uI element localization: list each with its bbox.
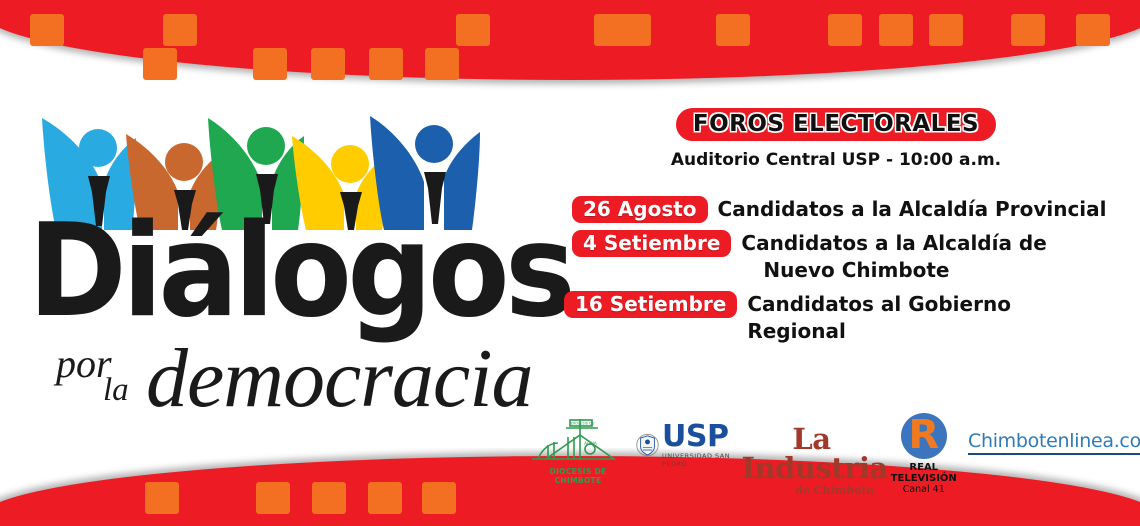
footer-square bbox=[368, 482, 402, 514]
venue-text: Auditorio Central USP - 10:00 a.m. bbox=[556, 150, 1116, 170]
sponsor-row: AGUA DIOCESIS DE DIOCESIS DE CHIMBOTE US… bbox=[528, 413, 1128, 483]
event-row: 16 Setiembre Candidatos al Gobierno Regi… bbox=[556, 291, 1116, 345]
banner-root: Diálogos por la democracia FOROS ELECTOR… bbox=[0, 0, 1140, 526]
event-date-badge: 26 Agosto bbox=[572, 196, 708, 223]
usp-shield-icon bbox=[636, 428, 659, 462]
sponsor-la-industria: La Industria de Chimbote bbox=[741, 425, 881, 497]
footer-square bbox=[145, 482, 179, 514]
footer-square bbox=[422, 482, 456, 514]
event-description-line1: Candidatos al Gobierno Regional bbox=[747, 292, 1011, 343]
footer-square bbox=[256, 482, 290, 514]
header-square bbox=[929, 14, 963, 46]
header-square bbox=[879, 14, 913, 46]
header-square bbox=[311, 48, 345, 80]
event-description-line1: Candidatos a la Alcaldía de bbox=[741, 231, 1046, 255]
real-tv-name: REAL TELEVISIÓN bbox=[885, 462, 962, 484]
diocesis-cross-mountain-icon: AGUA DIOCESIS DE bbox=[528, 415, 628, 461]
logo-subtitle-democracia: democracia bbox=[146, 337, 533, 421]
header-square bbox=[163, 14, 197, 46]
header-band bbox=[0, 0, 1140, 92]
event-description: Candidatos a la Alcaldía de Nuevo Chimbo… bbox=[731, 230, 1046, 284]
real-tv-channel: Canal 41 bbox=[885, 484, 962, 495]
logo-title: Diálogos bbox=[28, 208, 484, 336]
real-tv-letter: R bbox=[901, 415, 947, 455]
chimbotenlinea-name: Chimbotenlinea.com bbox=[968, 430, 1140, 455]
header-square bbox=[143, 48, 177, 80]
svg-text:AGUA: AGUA bbox=[584, 441, 598, 447]
event-description-line1: Candidatos a la Alcaldía Provincial bbox=[718, 197, 1107, 221]
header-square bbox=[828, 14, 862, 46]
event-description: Candidatos a la Alcaldía Provincial bbox=[708, 196, 1107, 223]
svg-text:DIOCESIS DE: DIOCESIS DE bbox=[571, 422, 595, 426]
header-square bbox=[425, 48, 459, 80]
header-square bbox=[253, 48, 287, 80]
event-row: 4 Setiembre Candidatos a la Alcaldía de … bbox=[556, 230, 1116, 284]
usp-acronym: USP bbox=[662, 423, 735, 451]
event-row: 26 Agosto Candidatos a la Alcaldía Provi… bbox=[556, 196, 1116, 223]
logo-subtitle-la: la bbox=[103, 372, 129, 409]
sponsor-usp: USP UNIVERSIDAD SAN PEDRO bbox=[636, 423, 735, 468]
event-description: Candidatos al Gobierno Regional bbox=[737, 291, 1116, 345]
header-square bbox=[1011, 14, 1045, 46]
event-date-badge: 4 Setiembre bbox=[572, 230, 731, 257]
real-tv-circle-icon: R bbox=[901, 413, 947, 459]
header-square bbox=[456, 14, 490, 46]
event-info-column: FOROS ELECTORALES Auditorio Central USP … bbox=[556, 108, 1116, 352]
header-square bbox=[30, 14, 64, 46]
header-square bbox=[369, 48, 403, 80]
la-industria-sub: de Chimbote bbox=[741, 484, 881, 497]
event-date-badge: 16 Setiembre bbox=[564, 291, 737, 318]
sponsor-chimbotenlinea: Chimbotenlinea.com bbox=[968, 430, 1128, 455]
event-description-line2: Nuevo Chimbote bbox=[741, 257, 1046, 284]
dialogos-logo: Diálogos por la democracia bbox=[28, 112, 518, 412]
sponsor-diocesis-chimbote: AGUA DIOCESIS DE DIOCESIS DE CHIMBOTE bbox=[528, 415, 628, 485]
header-square bbox=[1076, 14, 1110, 46]
usp-full-name: UNIVERSIDAD SAN PEDRO bbox=[662, 452, 735, 468]
header-square bbox=[617, 14, 651, 46]
sponsor-real-television: R REAL TELEVISIÓN Canal 41 bbox=[885, 413, 962, 495]
foros-electorales-badge: FOROS ELECTORALES bbox=[676, 108, 996, 141]
usp-text-block: USP UNIVERSIDAD SAN PEDRO bbox=[662, 423, 735, 468]
la-industria-name: La Industria bbox=[741, 425, 881, 483]
header-square bbox=[716, 14, 750, 46]
diocesis-caption: DIOCESIS DE CHIMBOTE bbox=[528, 467, 628, 485]
event-list: 26 Agosto Candidatos a la Alcaldía Provi… bbox=[556, 196, 1116, 345]
footer-square bbox=[312, 482, 346, 514]
